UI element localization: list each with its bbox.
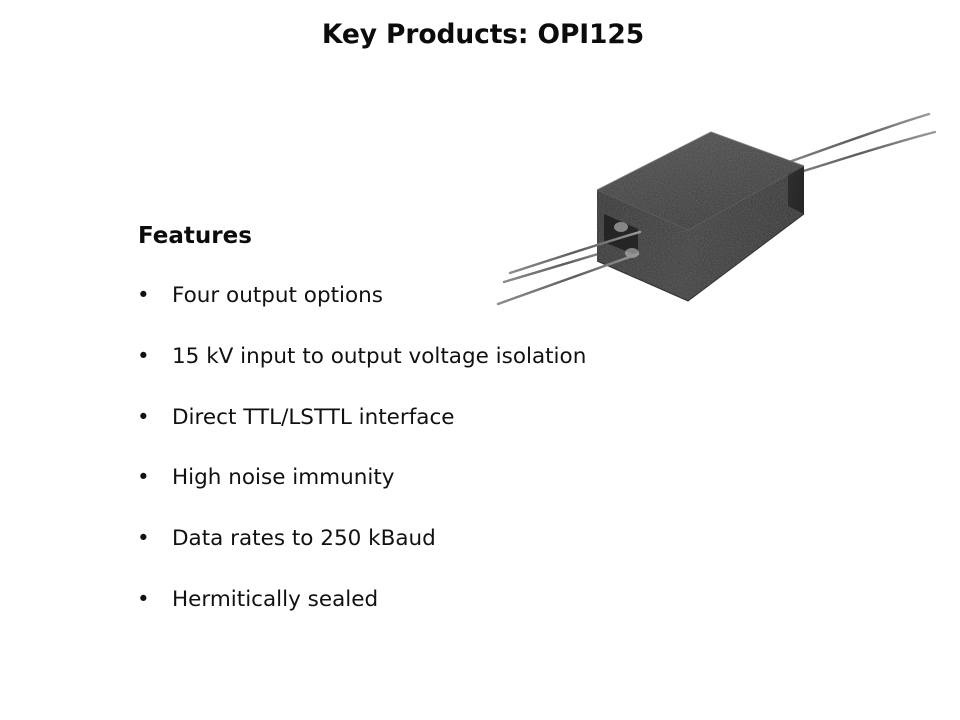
- bullet-icon: •: [137, 521, 151, 557]
- list-item: • 15 kV input to output voltage isolatio…: [134, 339, 774, 400]
- bullet-icon: •: [137, 582, 151, 618]
- list-item: • Data rates to 250 kBaud: [134, 521, 774, 582]
- list-item-label: 15 kV input to output voltage isolation: [172, 339, 586, 375]
- list-item-label: Direct TTL/LSTTL interface: [172, 400, 455, 436]
- bullet-icon: •: [137, 400, 151, 436]
- list-item-label: High noise immunity: [172, 460, 395, 496]
- list-item: • High noise immunity: [134, 460, 774, 521]
- features-heading: Features: [138, 222, 252, 250]
- bullet-icon: •: [137, 278, 151, 314]
- list-item-label: Hermitically sealed: [172, 582, 378, 618]
- features-bullet-list: • Four output options • 15 kV input to o…: [134, 278, 774, 643]
- list-item-label: Four output options: [172, 278, 383, 314]
- lead-exit-hole-upper: [614, 222, 628, 232]
- bullet-icon: •: [137, 339, 151, 375]
- list-item: • Four output options: [134, 278, 774, 339]
- slide-canvas: Key Products: OPI125: [0, 0, 960, 720]
- list-item: • Direct TTL/LSTTL interface: [134, 400, 774, 461]
- bullet-icon: •: [137, 460, 151, 496]
- page-title: Key Products: OPI125: [0, 19, 960, 51]
- list-item-label: Data rates to 250 kBaud: [172, 521, 436, 557]
- list-item: • Hermitically sealed: [134, 582, 774, 643]
